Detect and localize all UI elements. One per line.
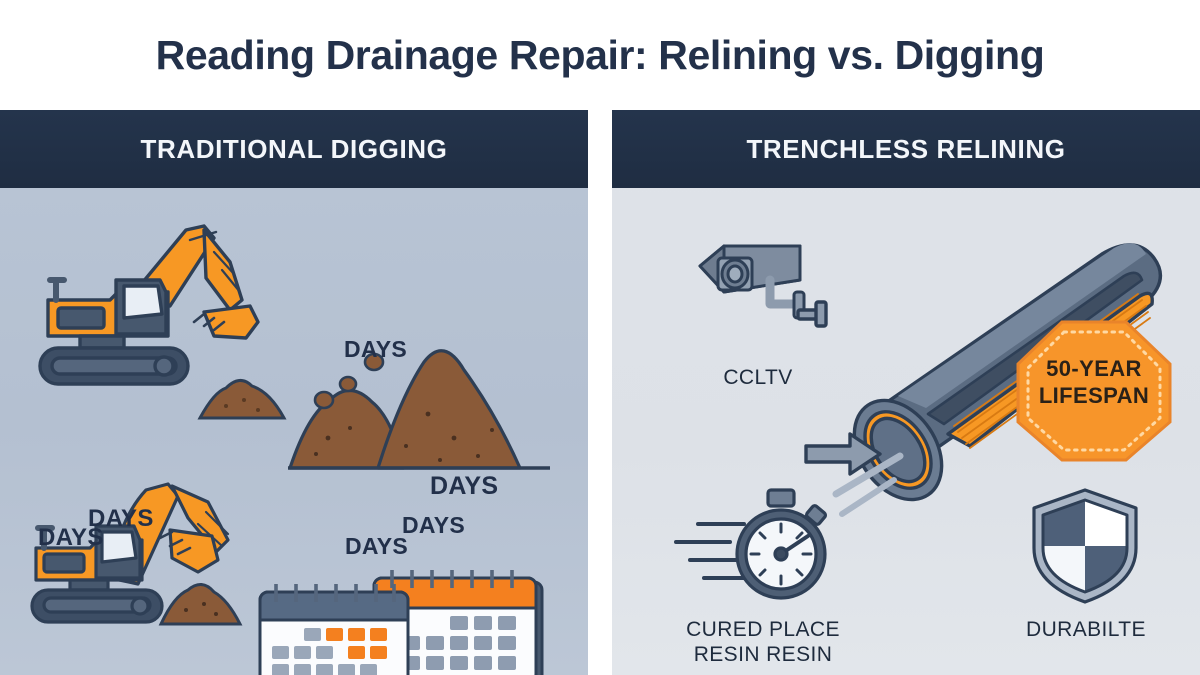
panel-traditional-digging: TRADITIONAL DIGGING xyxy=(0,110,588,675)
days-label: DAYS xyxy=(402,512,465,539)
days-label: DAYS xyxy=(344,336,407,363)
days-label: DAYS xyxy=(345,533,408,560)
durability-label: DURABILTE xyxy=(1000,618,1172,643)
panel-body-right: CCLTV xyxy=(612,188,1200,675)
page-title: Reading Drainage Repair: Relining vs. Di… xyxy=(156,32,1045,79)
stopwatch-icon xyxy=(668,488,854,608)
panel-trenchless-relining: TRENCHLESS RELINING xyxy=(612,110,1200,675)
panel-header-right: TRENCHLESS RELINING xyxy=(612,110,1200,188)
dirt-mound-icon xyxy=(158,576,244,628)
calendar-icon xyxy=(252,568,552,675)
shield-icon xyxy=(1026,486,1144,606)
panel-header-right-label: TRENCHLESS RELINING xyxy=(746,134,1065,165)
days-label: DAYS xyxy=(38,524,104,552)
dirt-mound-icon xyxy=(288,318,558,478)
panel-body-left: DAYS DAYS DAYS DAYS DAYS DAYS xyxy=(0,188,588,675)
cipp-label-line1: CURED PLACE xyxy=(668,618,858,643)
panel-header-left-label: TRADITIONAL DIGGING xyxy=(140,134,447,165)
panel-header-left: TRADITIONAL DIGGING xyxy=(0,110,588,188)
infographic-root: Reading Drainage Repair: Relining vs. Di… xyxy=(0,0,1200,675)
panels-container: TRADITIONAL DIGGING xyxy=(0,110,1200,675)
cctv-label: CCLTV xyxy=(708,366,808,391)
dirt-mound-icon xyxy=(196,370,290,422)
panel-divider xyxy=(588,110,612,675)
cipp-label: CURED PLACE RESIN RESIN xyxy=(668,618,858,668)
lifespan-badge-text: 50-YEAR LIFESPAN xyxy=(1014,356,1174,410)
title-bar: Reading Drainage Repair: Relining vs. Di… xyxy=(0,0,1200,110)
days-label: DAYS xyxy=(430,472,498,501)
cipp-label-line2: RESIN RESIN xyxy=(668,643,858,668)
lifespan-badge-line1: 50-YEAR xyxy=(1014,356,1174,383)
lifespan-badge-line2: LIFESPAN xyxy=(1014,383,1174,410)
